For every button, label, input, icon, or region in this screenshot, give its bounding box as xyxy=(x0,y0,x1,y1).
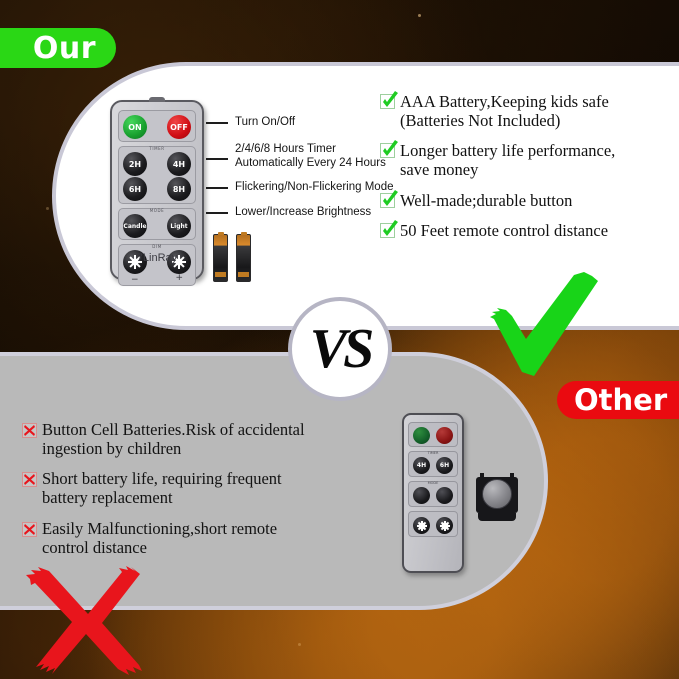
list-item-line1: Short battery life, requiring frequent xyxy=(42,469,282,488)
list-item-line1: AAA Battery,Keeping kids safe xyxy=(400,92,609,111)
list-item-text: Easily Malfunctioning,short remote contr… xyxy=(42,519,277,557)
timer-4h-button[interactable]: 4H xyxy=(167,152,191,176)
check-icon xyxy=(380,94,395,109)
timer-2h-label: 2H xyxy=(129,160,141,169)
list-item-line1: Well-made;durable button xyxy=(400,191,572,210)
other-timer-6h-button[interactable]: 6H xyxy=(436,457,453,474)
list-item-line1: Easily Malfunctioning,short remote xyxy=(42,519,277,538)
list-item-line2: (Batteries Not Included) xyxy=(400,111,609,130)
list-item-text: Button Cell Batteries.Risk of accidental… xyxy=(42,420,305,458)
dim-section-label: DIM xyxy=(119,244,195,249)
ir-emitter-icon xyxy=(149,97,165,102)
other-on-button[interactable] xyxy=(413,427,430,444)
timer-6h-label: 6H xyxy=(129,185,141,194)
callout-line xyxy=(206,158,228,160)
list-item: Button Cell Batteries.Risk of accidental… xyxy=(22,420,362,458)
other-light-button[interactable] xyxy=(436,487,453,504)
mode-button-group: MODE Candle Light xyxy=(118,208,196,240)
callout-timer: 2/4/6/8 Hours Timer Automatically Every … xyxy=(206,142,386,170)
list-item-line1: Longer battery life performance, xyxy=(400,141,615,160)
vs-badge-label: VS xyxy=(310,317,371,381)
aaa-battery xyxy=(236,234,251,282)
our-remote-control: ON OFF TIMER 2H 4H 6H 8H MODE Cand xyxy=(110,100,204,280)
cross-icon xyxy=(22,522,37,537)
background-speck xyxy=(418,14,421,17)
callout-mode: Flickering/Non-Flickering Mode xyxy=(206,180,394,194)
on-button-label: ON xyxy=(128,123,142,132)
callout-timer-line1: 2/4/6/8 Hours Timer xyxy=(235,142,386,156)
our-badge-label: Our xyxy=(33,31,96,66)
list-item: Short battery life, requiring frequent b… xyxy=(22,469,362,507)
other-off-button[interactable] xyxy=(436,427,453,444)
callout-brightness-line1: Lower/Increase Brightness xyxy=(235,205,371,219)
big-cross-mark-icon xyxy=(26,566,142,679)
other-mode-group: MODE xyxy=(408,481,458,507)
cross-icon xyxy=(22,423,37,438)
check-icon xyxy=(380,143,395,158)
comparison-infographic: Our ON OFF TIMER 2H 4H 6H 8H xyxy=(0,0,679,679)
candle-mode-button[interactable]: Candle xyxy=(123,214,147,238)
callout-power-line1: Turn On/Off xyxy=(235,115,295,129)
other-timer-section-label: TIMER xyxy=(409,451,457,455)
remote-brand-label: 7LinRay xyxy=(112,252,202,264)
on-button[interactable]: ON xyxy=(123,115,147,139)
timer-section-label: TIMER xyxy=(119,146,195,151)
other-dim-up-button[interactable] xyxy=(436,517,453,534)
candle-mode-label: Candle xyxy=(123,223,146,230)
list-item-line2: battery replacement xyxy=(42,488,282,507)
list-item: Easily Malfunctioning,short remote contr… xyxy=(22,519,362,557)
other-timer-group: TIMER 4H 6H xyxy=(408,451,458,477)
dim-plus-label: + xyxy=(175,273,183,283)
background-speck xyxy=(46,207,49,210)
coin-cell-icon xyxy=(482,479,512,509)
callout-power-text: Turn On/Off xyxy=(235,115,295,129)
timer-button-group: TIMER 2H 4H 6H 8H xyxy=(118,146,196,204)
list-item: Longer battery life performance, save mo… xyxy=(380,141,670,179)
big-check-mark-icon xyxy=(488,272,600,382)
list-item-text: Longer battery life performance, save mo… xyxy=(400,141,615,179)
callout-line xyxy=(206,122,228,124)
callout-timer-line2: Automatically Every 24 Hours xyxy=(235,156,386,170)
list-item-line2: save money xyxy=(400,160,615,179)
background-speck xyxy=(298,643,301,646)
other-timer-6h-label: 6H xyxy=(440,462,449,469)
dim-minus-label: − xyxy=(131,275,139,285)
timer-6h-button[interactable]: 6H xyxy=(123,177,147,201)
list-item: Well-made;durable button xyxy=(380,191,670,210)
button-cell-battery xyxy=(476,473,518,517)
vs-badge: VS xyxy=(288,297,392,401)
other-power-group xyxy=(408,422,458,447)
timer-8h-button[interactable]: 8H xyxy=(167,177,191,201)
check-icon xyxy=(380,193,395,208)
other-timer-4h-button[interactable]: 4H xyxy=(413,457,430,474)
callout-line xyxy=(206,212,228,214)
dim-button-group: DIM − + xyxy=(118,244,196,286)
list-item-text: 50 Feet remote control distance xyxy=(400,221,608,240)
callout-timer-text: 2/4/6/8 Hours Timer Automatically Every … xyxy=(235,142,386,170)
other-candle-button[interactable] xyxy=(413,487,430,504)
off-button[interactable]: OFF xyxy=(167,115,191,139)
callout-power: Turn On/Off xyxy=(206,115,295,129)
cross-icon xyxy=(22,472,37,487)
brightness-icon xyxy=(416,520,427,531)
list-item-line1: 50 Feet remote control distance xyxy=(400,221,608,240)
callout-brightness: Lower/Increase Brightness xyxy=(206,205,371,219)
callout-brightness-text: Lower/Increase Brightness xyxy=(235,205,371,219)
callout-mode-text: Flickering/Non-Flickering Mode xyxy=(235,180,394,194)
list-item-line2: ingestion by children xyxy=(42,439,305,458)
timer-4h-label: 4H xyxy=(173,160,185,169)
other-timer-4h-label: 4H xyxy=(417,462,426,469)
other-remote-control: TIMER 4H 6H MODE xyxy=(402,413,464,573)
light-mode-button[interactable]: Light xyxy=(167,214,191,238)
our-badge: Our xyxy=(0,28,116,68)
list-item-line2: control distance xyxy=(42,538,277,557)
other-badge: Other xyxy=(557,381,679,419)
list-item-line1: Button Cell Batteries.Risk of accidental xyxy=(42,420,305,439)
list-item: AAA Battery,Keeping kids safe (Batteries… xyxy=(380,92,670,130)
other-mode-section-label: MODE xyxy=(409,481,457,485)
light-mode-label: Light xyxy=(170,223,187,230)
timer-2h-button[interactable]: 2H xyxy=(123,152,147,176)
brightness-icon xyxy=(439,520,450,531)
off-button-label: OFF xyxy=(170,123,188,132)
list-item: 50 Feet remote control distance xyxy=(380,221,670,240)
mode-section-label: MODE xyxy=(119,208,195,213)
list-item-text: Short battery life, requiring frequent b… xyxy=(42,469,282,507)
check-icon xyxy=(380,223,395,238)
our-feature-list: AAA Battery,Keeping kids safe (Batteries… xyxy=(380,92,670,251)
callout-line xyxy=(206,187,228,189)
aaa-battery xyxy=(213,234,228,282)
power-button-group: ON OFF xyxy=(118,110,196,142)
battery-holder-foot xyxy=(478,513,516,521)
other-dim-group xyxy=(408,511,458,537)
other-feature-list: Button Cell Batteries.Risk of accidental… xyxy=(22,420,362,568)
callout-mode-line1: Flickering/Non-Flickering Mode xyxy=(235,180,394,194)
other-dim-down-button[interactable] xyxy=(413,517,430,534)
timer-8h-label: 8H xyxy=(173,185,185,194)
list-item-text: Well-made;durable button xyxy=(400,191,572,210)
other-badge-label: Other xyxy=(574,383,667,417)
list-item-text: AAA Battery,Keeping kids safe (Batteries… xyxy=(400,92,609,130)
